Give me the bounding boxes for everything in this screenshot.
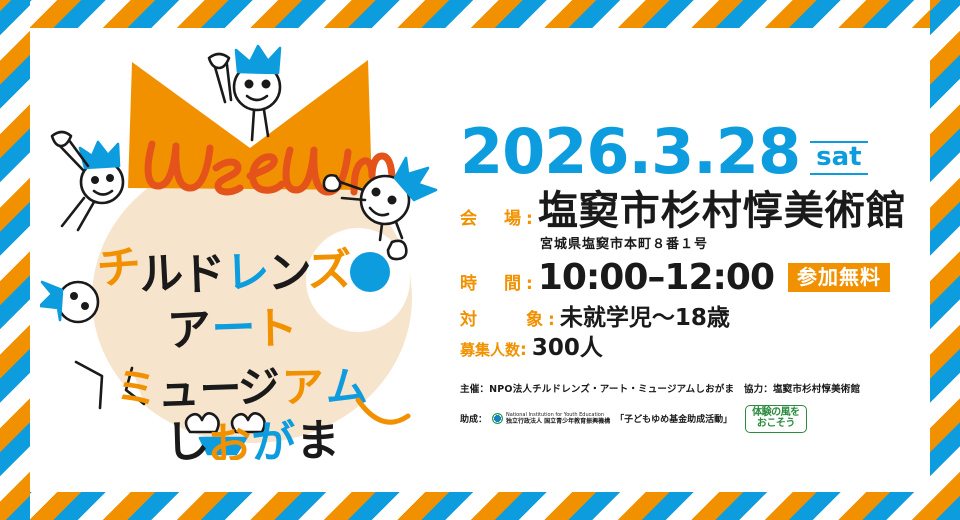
svg-text:ジ: ジ xyxy=(237,362,280,412)
organizer-cooperation-line: 主催：NPO法人チルドレンズ・アート・ミュージアムしおがま 協力：塩窫市杉村惇美… xyxy=(460,383,930,396)
time-label: 時 間 xyxy=(460,269,526,294)
capacity-value: 300人 xyxy=(532,336,603,361)
credits-block: 主催：NPO法人チルドレンズ・アート・ミュージアムしおがま 協力：塩窫市杉村惇美… xyxy=(460,383,930,432)
svg-text:チ: チ xyxy=(95,241,142,295)
svg-text:ン: ン xyxy=(267,247,312,299)
svg-text:ル: ル xyxy=(138,248,185,301)
character-figure-lower-left xyxy=(40,282,98,322)
free-admission-badge: 参加無料 xyxy=(788,263,890,292)
kaze-logo-line-2: おこそう xyxy=(757,419,795,429)
svg-text:お: お xyxy=(207,418,253,460)
svg-text:ミ: ミ xyxy=(114,363,159,414)
event-date-row: 2026.3.28 sat xyxy=(460,123,930,182)
youth-education-org-text: National Institution for Youth Education… xyxy=(506,412,610,426)
border-stripe-right xyxy=(930,0,960,520)
time-row: 時 間 : 10:00–12:00 参加無料 xyxy=(460,260,930,296)
svg-text:し: し xyxy=(164,416,211,460)
taiken-no-kaze-logo: 体験の風を おこそう xyxy=(745,405,807,433)
border-stripe-bottom xyxy=(0,492,960,520)
target-row: 対 象 : 未就学児〜18歳 xyxy=(460,305,930,331)
svg-text:ア: ア xyxy=(166,304,213,357)
grant-program-name: 「子どもゆめ基金助成活動」 xyxy=(615,412,732,425)
event-details: 2026.3.28 sat 会 場 : 塩窫市杉村惇美術館 宮城県塩窫市本町８番… xyxy=(460,123,930,433)
target-colon: : xyxy=(548,310,560,330)
target-value: 未就学児〜18歳 xyxy=(560,306,730,331)
time-value: 10:00–12:00 xyxy=(538,260,774,296)
poster-content: チ ル ド レ ン ズ ア ー ト ミ ュ ー xyxy=(30,28,930,492)
svg-text:ト: ト xyxy=(253,303,298,355)
venue-address: 宮城県塩窫市本町８番１号 xyxy=(540,233,930,252)
logo-title-line-4: し お が ま xyxy=(164,415,340,460)
svg-text:ま: ま xyxy=(295,415,340,460)
venue-name: 塩窫市杉村惇美術館 xyxy=(538,190,907,232)
svg-text:ア: ア xyxy=(281,362,324,412)
event-day-of-week: sat xyxy=(810,141,867,175)
grant-row: 助成： National Institution for Youth Educa… xyxy=(460,405,930,433)
capacity-row: 募集人数 : 300人 xyxy=(460,336,930,361)
svg-text:ー: ー xyxy=(211,302,257,355)
event-poster: チ ル ド レ ン ズ ア ー ト ミ ュ ー xyxy=(0,0,960,520)
venue-colon: : xyxy=(526,209,538,229)
capacity-label: 募集人数 xyxy=(460,339,520,360)
youth-education-mark-icon xyxy=(492,413,503,424)
event-date: 2026.3.28 xyxy=(460,123,800,182)
border-stripe-left xyxy=(0,0,30,520)
svg-text:ド: ド xyxy=(181,248,227,301)
svg-text:レ: レ xyxy=(225,246,271,299)
svg-text:が: が xyxy=(251,416,297,460)
svg-text:ズ: ズ xyxy=(307,244,353,297)
grant-org-ja: 独立行政法人 国立青少年教育振興機構 xyxy=(506,418,610,425)
grant-org-en: National Institution for Youth Education xyxy=(506,412,604,418)
border-stripe-top xyxy=(0,0,960,28)
eye-pupil-blue xyxy=(350,252,390,292)
time-colon: : xyxy=(526,274,538,294)
capacity-colon: : xyxy=(520,340,532,360)
svg-text:ュ: ュ xyxy=(157,366,201,416)
kaze-logo-line-1: 体験の風を xyxy=(752,408,800,418)
character-figure-left xyxy=(52,132,123,230)
logo-title-line-1: チ ル ド レ ン ズ xyxy=(95,241,352,301)
youth-education-logo: National Institution for Youth Education… xyxy=(492,412,610,426)
venue-row: 会 場 : 塩窫市杉村惇美術館 宮城県塩窫市本町８番１号 xyxy=(460,190,930,252)
svg-text:ー: ー xyxy=(199,364,243,414)
grant-label: 助成： xyxy=(460,412,487,425)
venue-label: 会 場 xyxy=(460,204,526,229)
organization-logo-artwork: チ ル ド レ ン ズ ア ー ト ミ ュ ー xyxy=(40,40,460,460)
logo-title-line-2: ア ー ト xyxy=(166,302,298,356)
target-label: 対 象 xyxy=(460,305,548,330)
logo-title-line-3: ミ ュ ー ジ ア ム xyxy=(114,362,368,416)
